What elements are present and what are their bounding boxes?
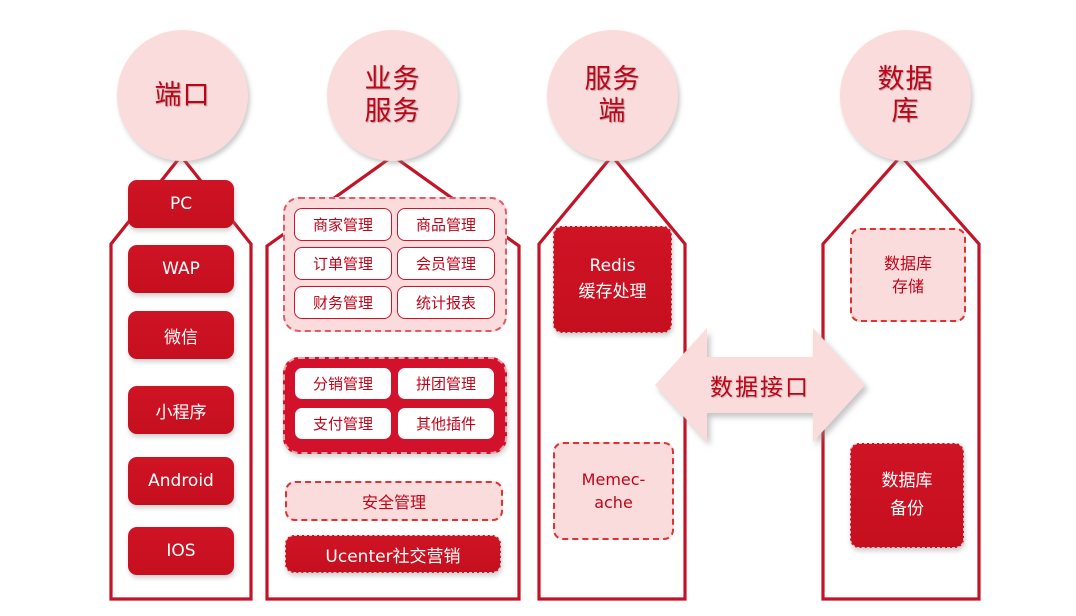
item-memcache[interactable]: Memec- ache <box>553 442 674 540</box>
item-redis-cache[interactable]: Redis 缓存处理 <box>553 226 672 333</box>
circle-header-database: 数据 库 <box>840 30 971 161</box>
circle-header-business: 业务 服务 <box>327 30 458 161</box>
item-ios-label: IOS <box>166 541 195 561</box>
circle-header-server-line-1: 服务 <box>585 64 641 96</box>
item-database-backup-line-2: 备份 <box>890 496 924 523</box>
chip-member-management[interactable]: 会员管理 <box>397 247 495 280</box>
item-wap-label: WAP <box>162 259 200 279</box>
item-pc[interactable]: PC <box>128 180 234 228</box>
item-redis-cache-line-2: 缓存处理 <box>579 280 647 306</box>
chip-product-management-label: 商品管理 <box>416 214 476 235</box>
item-android[interactable]: Android <box>128 457 234 505</box>
item-database-storage-line-1: 数据库 <box>884 252 932 275</box>
chip-statistics-report-label: 统计报表 <box>416 292 476 313</box>
item-miniprogram-label: 小程序 <box>156 398 207 423</box>
chip-product-management[interactable]: 商品管理 <box>397 208 495 241</box>
item-database-backup[interactable]: 数据库 备份 <box>850 443 964 548</box>
chip-distribution-management[interactable]: 分销管理 <box>294 367 392 400</box>
data-interface-arrow-label: 数据接口 <box>653 368 867 402</box>
circle-header-server-line-2: 端 <box>585 96 641 128</box>
chip-member-management-label: 会员管理 <box>416 253 476 274</box>
chip-merchant-management-label: 商家管理 <box>313 214 373 235</box>
item-miniprogram[interactable]: 小程序 <box>128 386 234 434</box>
item-wap[interactable]: WAP <box>128 245 234 293</box>
item-database-storage-line-2: 存储 <box>892 275 924 298</box>
chip-group-buy-management[interactable]: 拼团管理 <box>397 367 495 400</box>
chip-order-management[interactable]: 订单管理 <box>294 247 392 280</box>
chip-finance-management[interactable]: 财务管理 <box>294 286 392 319</box>
data-interface-arrow: 数据接口 <box>653 318 867 452</box>
item-ucenter-social-marketing-label: Ucenter社交营销 <box>325 542 460 567</box>
chip-other-plugins-label: 其他插件 <box>416 413 476 434</box>
item-wechat-label: 微信 <box>164 323 198 348</box>
item-ucenter-social-marketing[interactable]: Ucenter社交营销 <box>285 535 501 573</box>
item-security-management-label: 安全管理 <box>362 489 426 513</box>
item-database-storage[interactable]: 数据库 存储 <box>850 228 966 322</box>
chip-payment-management-label: 支付管理 <box>313 413 373 434</box>
item-wechat[interactable]: 微信 <box>128 311 234 359</box>
item-database-backup-line-1: 数据库 <box>882 468 933 495</box>
chip-merchant-management[interactable]: 商家管理 <box>294 208 392 241</box>
circle-header-database-line-2: 库 <box>878 96 934 128</box>
chip-payment-management[interactable]: 支付管理 <box>294 407 392 440</box>
chip-group-buy-management-label: 拼团管理 <box>416 373 476 394</box>
item-redis-cache-line-1: Redis <box>590 254 636 280</box>
item-android-label: Android <box>148 471 214 491</box>
item-memcache-line-1: Memec- <box>582 468 646 491</box>
circle-header-terminal: 端口 <box>117 30 248 161</box>
item-security-management[interactable]: 安全管理 <box>285 481 503 521</box>
chip-finance-management-label: 财务管理 <box>313 292 373 313</box>
circle-header-server: 服务 端 <box>547 30 678 161</box>
chip-distribution-management-label: 分销管理 <box>313 373 373 394</box>
circle-header-database-line-1: 数据 <box>878 64 934 96</box>
chip-order-management-label: 订单管理 <box>313 253 373 274</box>
architecture-diagram: 端口 PC WAP 微信 小程序 Android IOS 业务 服务 商家管理 … <box>0 0 1076 616</box>
item-memcache-line-2: ache <box>594 491 633 514</box>
chip-other-plugins[interactable]: 其他插件 <box>397 407 495 440</box>
circle-header-business-line-2: 服务 <box>365 96 421 128</box>
circle-header-terminal-line-1: 端口 <box>155 80 211 112</box>
circle-header-business-line-1: 业务 <box>365 64 421 96</box>
item-pc-label: PC <box>170 194 192 214</box>
chip-statistics-report[interactable]: 统计报表 <box>397 286 495 319</box>
item-ios[interactable]: IOS <box>128 527 234 575</box>
